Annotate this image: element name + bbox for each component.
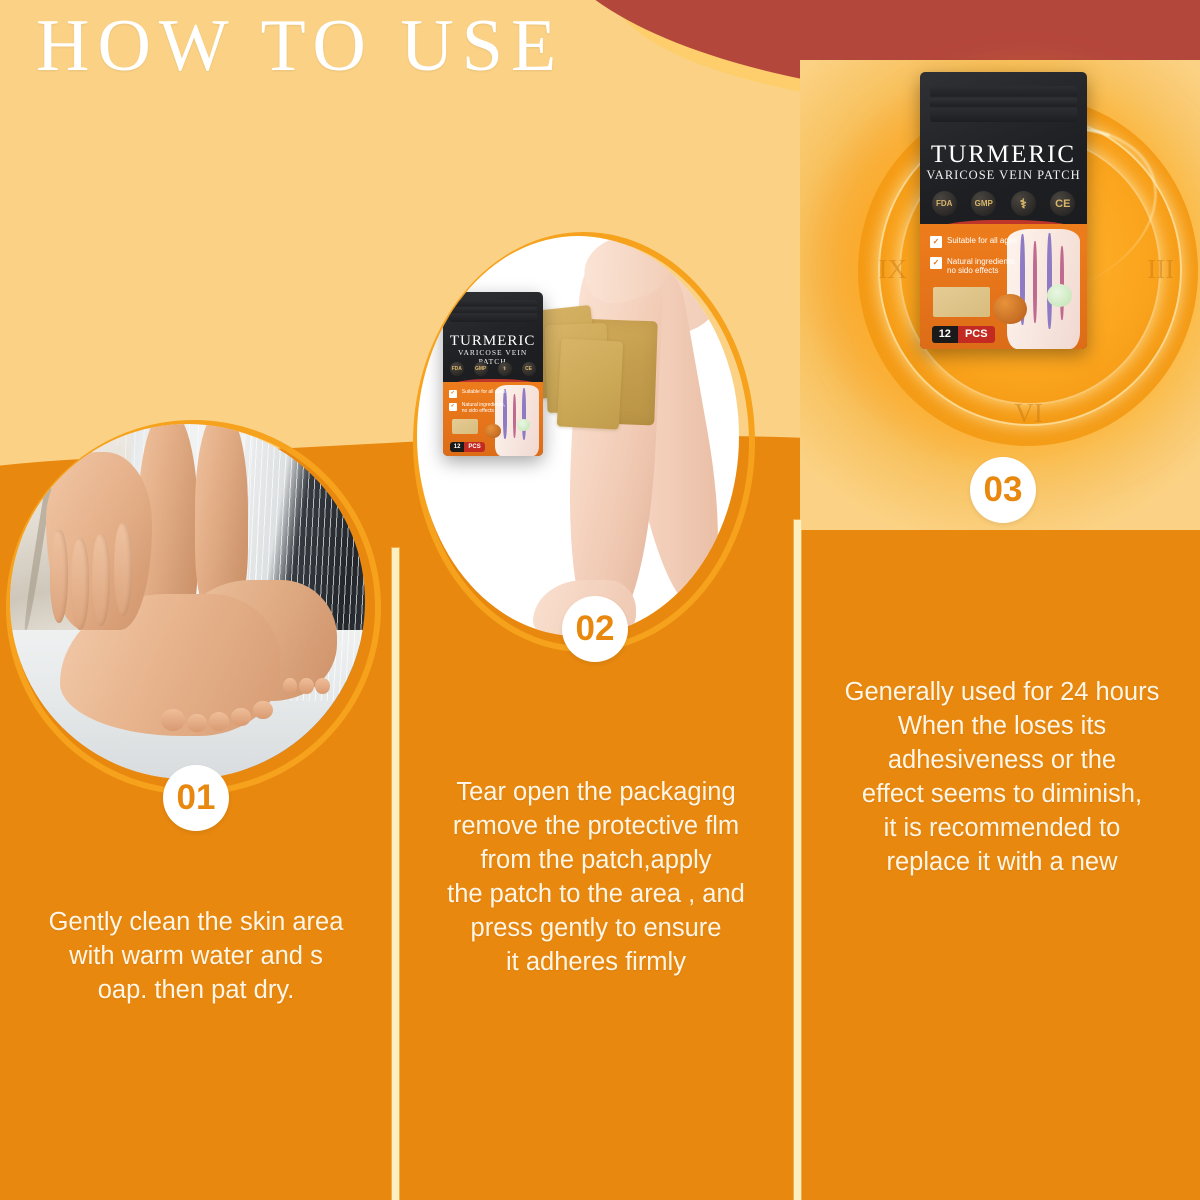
step-1-text-line: Gently clean the skin area [8,906,384,940]
checkbox-icon: ✓ [930,257,942,269]
package-feature-1-label: Suitable for all ages [947,236,1017,246]
toe [283,678,298,694]
step-3-text-line: replace it with a new [805,846,1199,880]
toe [187,714,207,732]
step-2-photo: TURMERIC VARICOSE VEIN PATCH FDA GMP ⚕ C… [417,236,739,636]
package-count-number: 12 [450,442,465,452]
checkbox-icon: ✓ [449,390,457,398]
product-package-small: TURMERIC VARICOSE VEIN PATCH FDA GMP ⚕ C… [443,292,543,456]
step-3-text-line: effect seems to diminish, [805,778,1199,812]
checkbox-icon: ✓ [930,236,942,248]
package-count-badge: 12 PCS [450,442,485,452]
step-3-text-line: adhesiveness or the [805,744,1199,778]
finger [92,534,110,626]
leaf-badge-icon [517,419,530,431]
cert-badge-fda: FDA [932,191,957,216]
toe [299,678,314,694]
step-2-text-line: it adheres firmly [405,946,787,980]
package-patch-illustration [933,287,990,317]
step-3-text-line: When the loses its [805,710,1199,744]
checkbox-icon: ✓ [449,403,457,411]
finger [71,538,89,630]
shower-scene [10,424,365,779]
vein [1033,241,1037,322]
loose-patch [556,338,623,429]
vein [513,394,516,438]
toe [209,712,229,730]
product-package-large: TURMERIC VARICOSE VEIN PATCH FDA GMP ⚕ C… [920,72,1087,349]
step-badge-2: 02 [562,596,628,662]
step-column-2: TURMERIC VARICOSE VEIN PATCH FDA GMP ⚕ C… [399,0,794,1200]
step-1-text-line: with warm water and s [8,940,384,974]
cert-badge-ce: CE [1050,191,1075,216]
package-count-unit: PCS [464,442,484,452]
column-divider-1 [392,548,399,1200]
step-badge-1: 01 [163,765,229,831]
vein [522,388,526,440]
cert-badge-caduceus: ⚕ [498,362,512,376]
finger [114,523,132,615]
step-column-1: 01 Gently clean the skin area with warm … [0,0,392,1200]
cert-badge-ce: CE [522,362,536,376]
hand-washing-ankle [46,452,153,630]
package-feature-2: ✓ Natural ingredients, no sido effects [449,403,505,415]
package-count-badge: 12 PCS [932,326,995,343]
column-divider-2 [794,520,801,1200]
step-2-text-line: remove the protective flm [405,810,787,844]
finger [50,530,68,622]
package-patch-illustration [452,419,478,434]
package-count-number: 12 [932,326,958,343]
package-zip-seal [449,300,537,321]
infographic-canvas: HOW TO USE XII III VI IX [0,0,1200,1200]
step-3-text: Generally used for 24 hours When the los… [805,676,1199,879]
package-feature-1-label: Suitable for all ages [462,390,506,396]
toe-big [161,709,185,730]
step-2-text-line: from the patch,apply [405,844,787,878]
vein [1060,246,1064,320]
step-column-3: TURMERIC VARICOSE VEIN PATCH FDA GMP ⚕ C… [801,0,1200,1200]
package-feature-2: ✓ Natural ingredients, no sido effects [930,257,1016,276]
package-feature-1: ✓ Suitable for all ages [930,236,1017,248]
package-feature-1: ✓ Suitable for all ages [449,390,506,398]
cert-badge-caduceus: ⚕ [1011,191,1036,216]
step-1-text-line: oap. then pat dry. [8,974,384,1008]
step-2-text: Tear open the packaging remove the prote… [405,776,787,979]
step-2-text-line: press gently to ensure [405,912,787,946]
step-1-photo [10,424,365,779]
package-lower-orange: ✓ Suitable for all ages ✓ Natural ingred… [920,224,1087,349]
step-2-text-line: Tear open the packaging [405,776,787,810]
package-count-unit: PCS [958,326,995,343]
toe [315,678,330,694]
package-subtitle: VARICOSE VEIN PATCH [920,168,1087,183]
step-3-text-line: Generally used for 24 hours [805,676,1199,710]
package-lower-orange: ✓ Suitable for all ages ✓ Natural ingred… [443,382,543,456]
package-zip-seal [930,86,1077,122]
step-1-text: Gently clean the skin area with warm wat… [8,906,384,1008]
turmeric-root-illustration [993,294,1026,324]
package-feature-2-label: Natural ingredients, no sido effects [947,257,1016,276]
cert-badge-gmp: GMP [971,191,996,216]
vein [1047,233,1052,329]
step-3-text-line: it is recommended to [805,812,1199,846]
cert-badge-fda: FDA [450,362,464,376]
package-brand-name: TURMERIC [920,141,1087,169]
turmeric-root-illustration [485,424,501,439]
step-badge-3: 03 [970,457,1036,523]
leaf-badge-icon [1047,284,1072,306]
cert-badge-gmp: GMP [474,362,488,376]
step-2-text-line: the patch to the area , and [405,878,787,912]
package-feature-2-label: Natural ingredients, no sido effects [462,403,505,415]
